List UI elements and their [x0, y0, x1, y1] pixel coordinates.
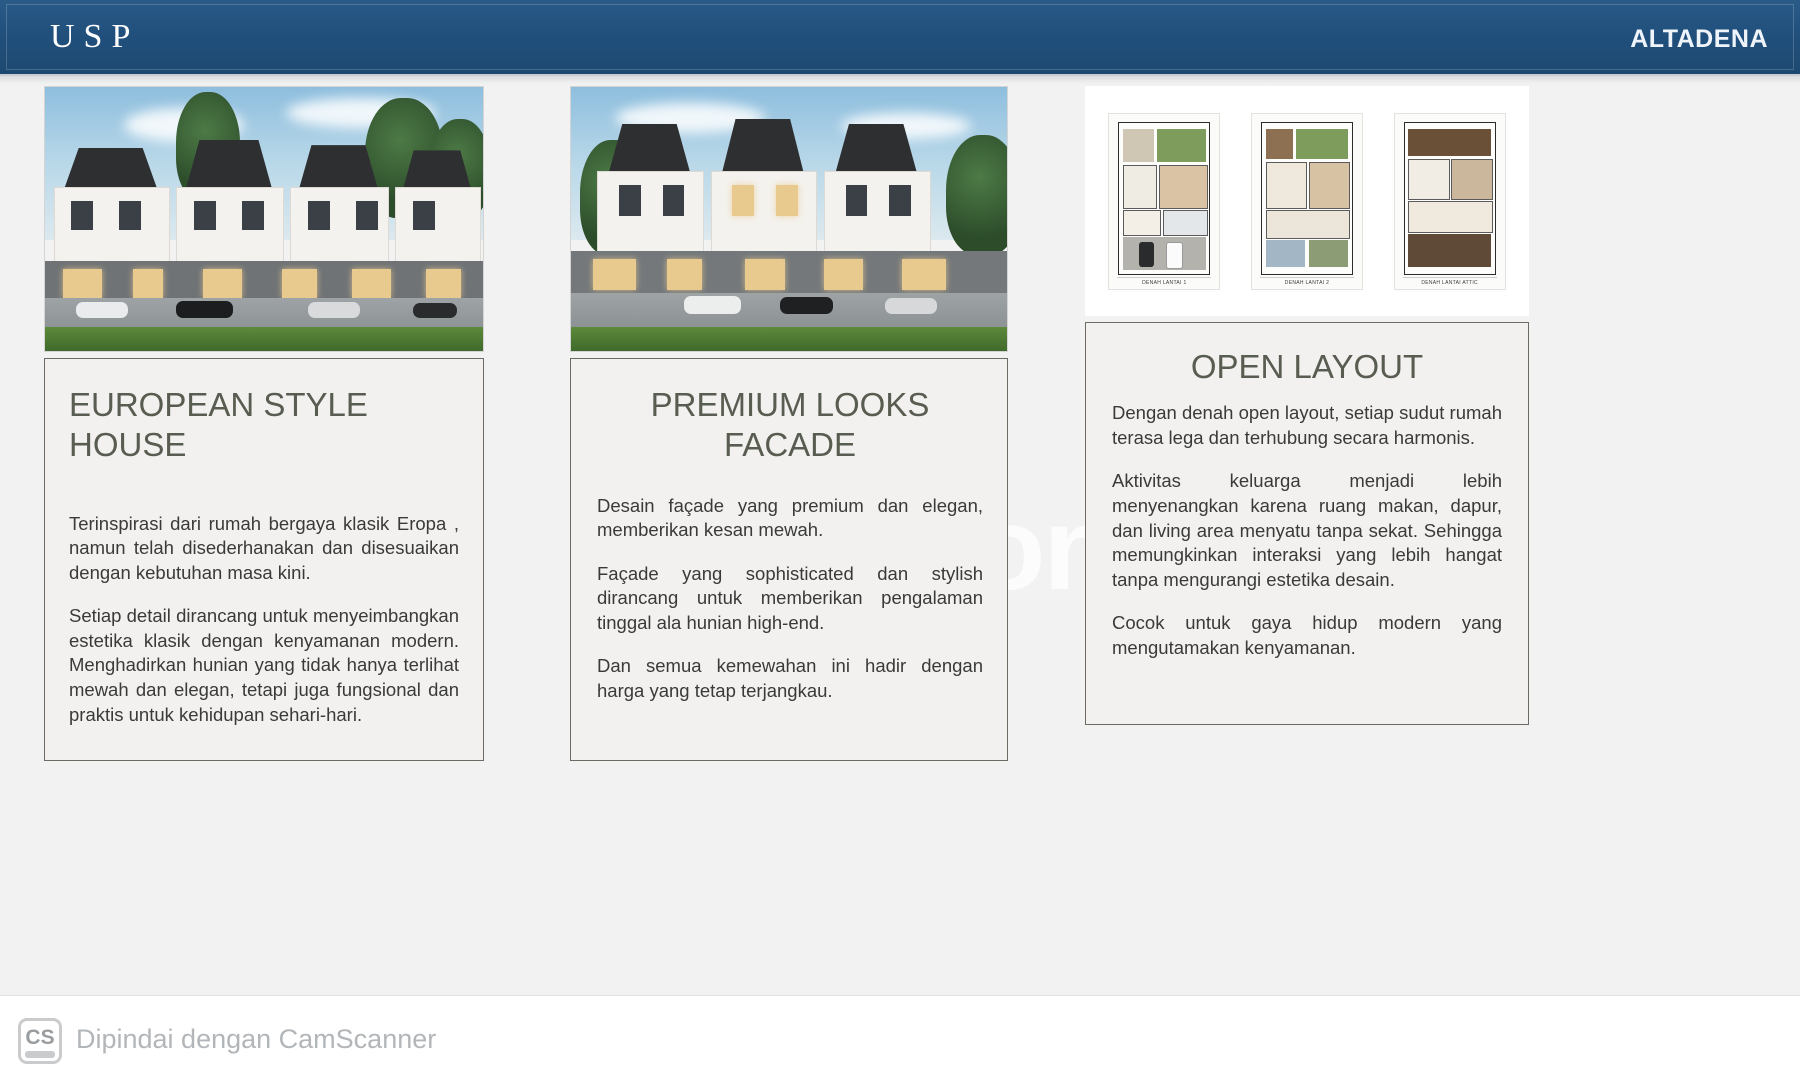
- card-title-line-1: PREMIUM LOOKS: [597, 385, 983, 425]
- card-european-style-house: EUROPEAN STYLE HOUSE Terinspirasi dari r…: [44, 86, 484, 761]
- card-open-layout: DENAH LANTAI 1 DENAH LANTAI 2: [1085, 86, 1529, 725]
- camscanner-caption: Dipindai dengan CamScanner: [76, 1024, 436, 1055]
- card-text-panel-3: OPEN LAYOUT Dengan denah open layout, se…: [1085, 322, 1529, 725]
- card-paragraph: Façade yang sophisticated dan stylish di…: [597, 562, 983, 636]
- page-header: USP ALTADENA: [0, 0, 1800, 76]
- floor-plan-1-caption: DENAH LANTAI 1: [1109, 278, 1219, 289]
- floor-plan-1-drawing: [1118, 122, 1210, 275]
- header-shadow: [0, 76, 1800, 86]
- card-paragraph: Cocok untuk gaya hidup modern yang mengu…: [1112, 611, 1502, 660]
- camscanner-footer: CS Dipindai dengan CamScanner: [0, 995, 1800, 1084]
- slide-body: Brighton: [0, 86, 1800, 996]
- brand-name: ALTADENA: [1630, 25, 1768, 54]
- card-title-european-style-house: EUROPEAN STYLE HOUSE: [69, 385, 459, 466]
- page-title: USP: [50, 18, 139, 56]
- card-paragraph: Terinspirasi dari rumah bergaya klasik E…: [69, 512, 459, 586]
- floor-plan-2: DENAH LANTAI 2: [1251, 113, 1363, 290]
- camscanner-logo-icon: CS: [18, 1018, 62, 1064]
- card-title-premium-looks-facade: PREMIUM LOOKS FACADE: [597, 385, 983, 466]
- floor-plan-3-drawing: [1404, 122, 1496, 275]
- card-premium-looks-facade: PREMIUM LOOKS FACADE Desain façade yang …: [570, 86, 1008, 761]
- floor-plan-3-caption: DENAH LANTAI ATTIC: [1395, 278, 1505, 289]
- header-border: [6, 4, 1794, 70]
- card-paragraph: Setiap detail dirancang untuk menyeimban…: [69, 604, 459, 727]
- card-image-european-style-house: [44, 86, 484, 352]
- camscanner-logo-text: CS: [25, 1026, 54, 1050]
- card-text-panel-2: PREMIUM LOOKS FACADE Desain façade yang …: [570, 358, 1008, 761]
- floor-plan-3: DENAH LANTAI ATTIC: [1394, 113, 1506, 290]
- card-title-line-2: FACADE: [597, 425, 983, 465]
- floor-plan-2-caption: DENAH LANTAI 2: [1252, 278, 1362, 289]
- card-paragraph: Dan semua kemewahan ini hadir dengan har…: [597, 654, 983, 703]
- card-title-open-layout: OPEN LAYOUT: [1112, 347, 1502, 387]
- card-paragraph: Desain façade yang premium dan elegan, m…: [597, 494, 983, 543]
- house-render-2: [571, 87, 1007, 351]
- card-image-open-layout: DENAH LANTAI 1 DENAH LANTAI 2: [1085, 86, 1529, 316]
- house-render-1: [45, 87, 483, 351]
- floor-plan-strip: DENAH LANTAI 1 DENAH LANTAI 2: [1085, 86, 1529, 316]
- card-paragraph: Dengan denah open layout, setiap sudut r…: [1112, 401, 1502, 450]
- floor-plan-1: DENAH LANTAI 1: [1108, 113, 1220, 290]
- card-text-panel-1: EUROPEAN STYLE HOUSE Terinspirasi dari r…: [44, 358, 484, 761]
- card-image-premium-looks-facade: [570, 86, 1008, 352]
- floor-plan-2-drawing: [1261, 122, 1353, 275]
- card-paragraph: Aktivitas keluarga menjadi lebih menyena…: [1112, 469, 1502, 592]
